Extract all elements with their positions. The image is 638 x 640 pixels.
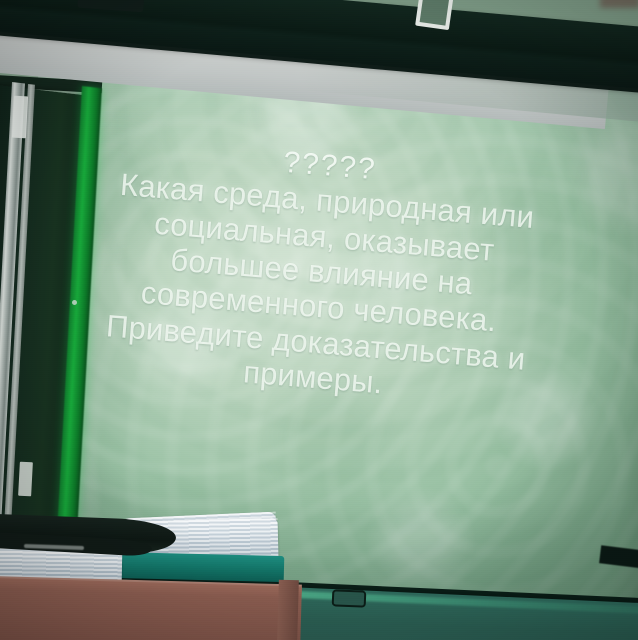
screen-bottom-bracket [332, 589, 367, 607]
wall-bracket [415, 0, 455, 30]
classroom-photo-scene: ????? Какая среда, природная или социаль… [0, 0, 638, 640]
teacher-desk [0, 578, 302, 640]
chalkboard-clip-bottom [18, 462, 33, 497]
chalkboard-clip-top [12, 96, 28, 139]
chalkboard-mark [72, 300, 77, 305]
teal-folder [112, 552, 285, 582]
desk-right-edge [277, 580, 299, 640]
wall-bracket-shadow [600, 0, 638, 8]
